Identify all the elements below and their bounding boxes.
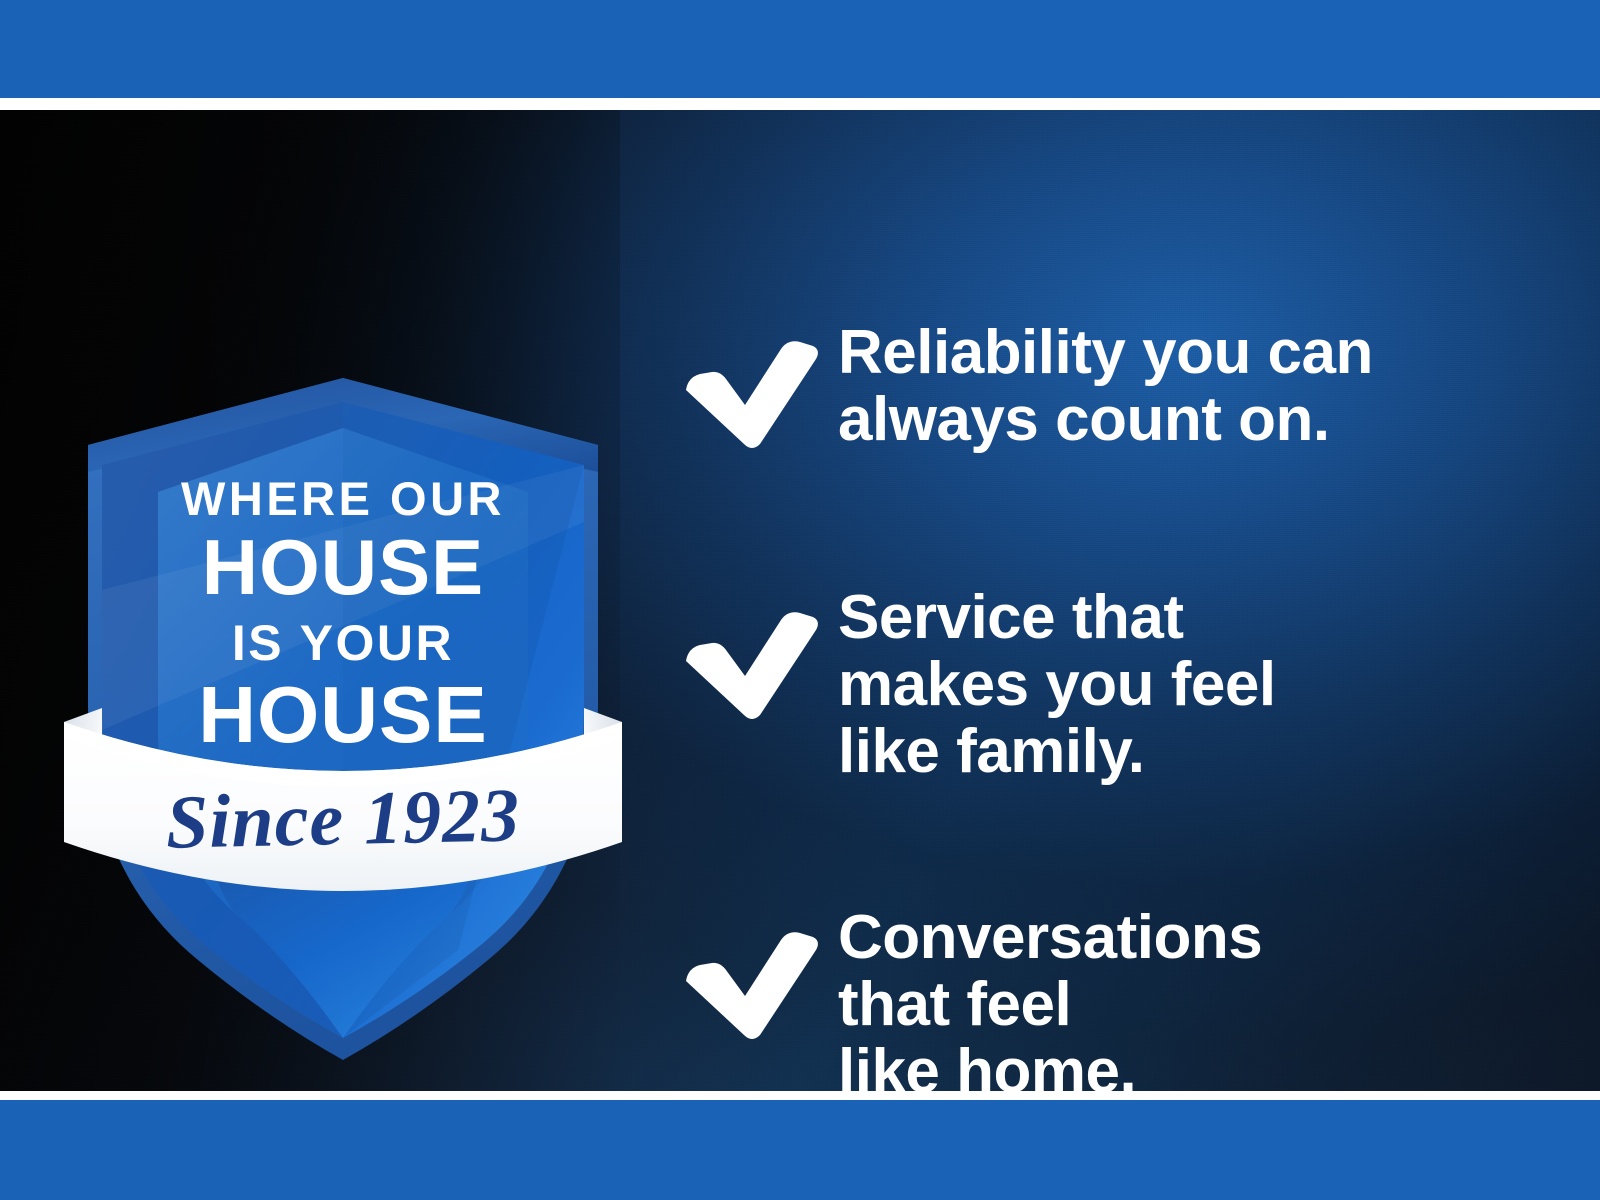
benefit-text-1: Reliability you can always count on.: [838, 320, 1538, 454]
check-icon: [682, 332, 822, 452]
benefit-text-3: Conversations that feel like home.: [838, 905, 1538, 1091]
top-brand-bar: [0, 0, 1600, 98]
company-shield-logo: WHERE OUR HOUSE IS YOUR HOUSE Since 1923: [58, 260, 628, 1080]
check-icon: [682, 603, 822, 723]
benefit-text-2: Service that makes you feel like family.: [838, 585, 1538, 786]
bottom-brand-bar: [0, 1100, 1600, 1200]
graphic-canvas: WHERE OUR HOUSE IS YOUR HOUSE Since 1923…: [0, 0, 1600, 1200]
shield-body: [88, 378, 598, 1060]
check-icon: [682, 923, 822, 1043]
main-panel: WHERE OUR HOUSE IS YOUR HOUSE Since 1923…: [0, 110, 1600, 1091]
benefits-list: Reliability you can always count on. Ser…: [670, 300, 1530, 1091]
